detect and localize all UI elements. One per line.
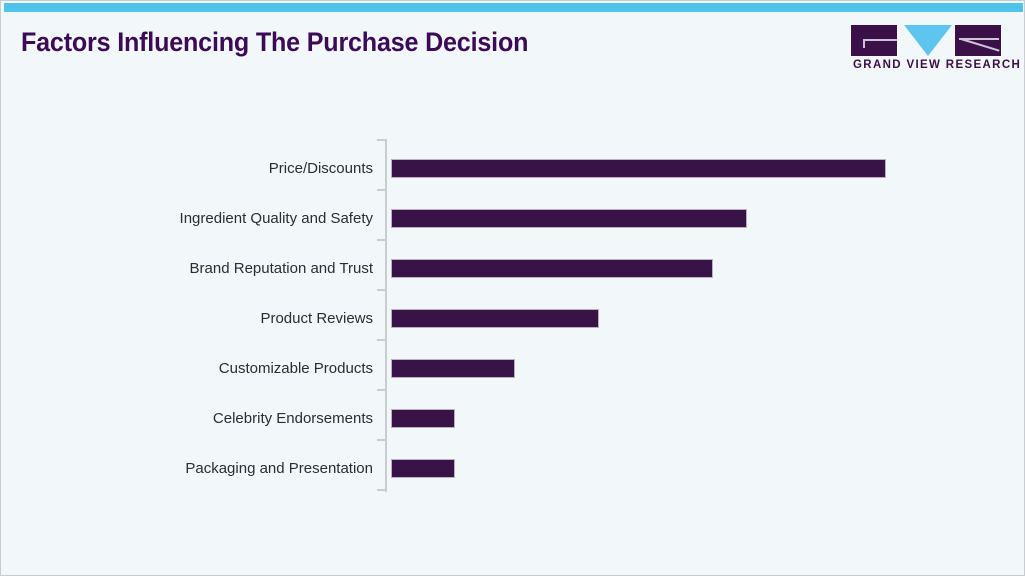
horizontal-bar-chart: Price/DiscountsIngredient Quality and Sa… <box>1 1 1025 576</box>
bar-brand-reputation-and-trust <box>391 259 713 278</box>
bar-celebrity-endorsements <box>391 409 455 428</box>
slide-canvas: Factors Influencing The Purchase Decisio… <box>0 0 1025 576</box>
axis-tick <box>377 189 386 191</box>
category-label: Product Reviews <box>260 310 373 328</box>
bar-price-discounts <box>391 159 886 178</box>
category-label: Ingredient Quality and Safety <box>180 210 373 228</box>
axis-tick <box>377 389 386 391</box>
axis-tick <box>377 439 386 441</box>
category-label: Customizable Products <box>219 360 373 378</box>
axis-tick <box>377 239 386 241</box>
bar-customizable-products <box>391 359 515 378</box>
bar-ingredient-quality-and-safety <box>391 209 747 228</box>
axis-tick <box>377 139 386 141</box>
axis-tick <box>377 489 386 491</box>
category-label: Packaging and Presentation <box>185 460 373 478</box>
category-label: Brand Reputation and Trust <box>190 260 373 278</box>
bar-product-reviews <box>391 309 599 328</box>
axis-tick <box>377 339 386 341</box>
axis-tick <box>377 289 386 291</box>
bar-packaging-and-presentation <box>391 459 455 478</box>
category-label: Price/Discounts <box>269 160 373 178</box>
category-label: Celebrity Endorsements <box>213 410 373 428</box>
